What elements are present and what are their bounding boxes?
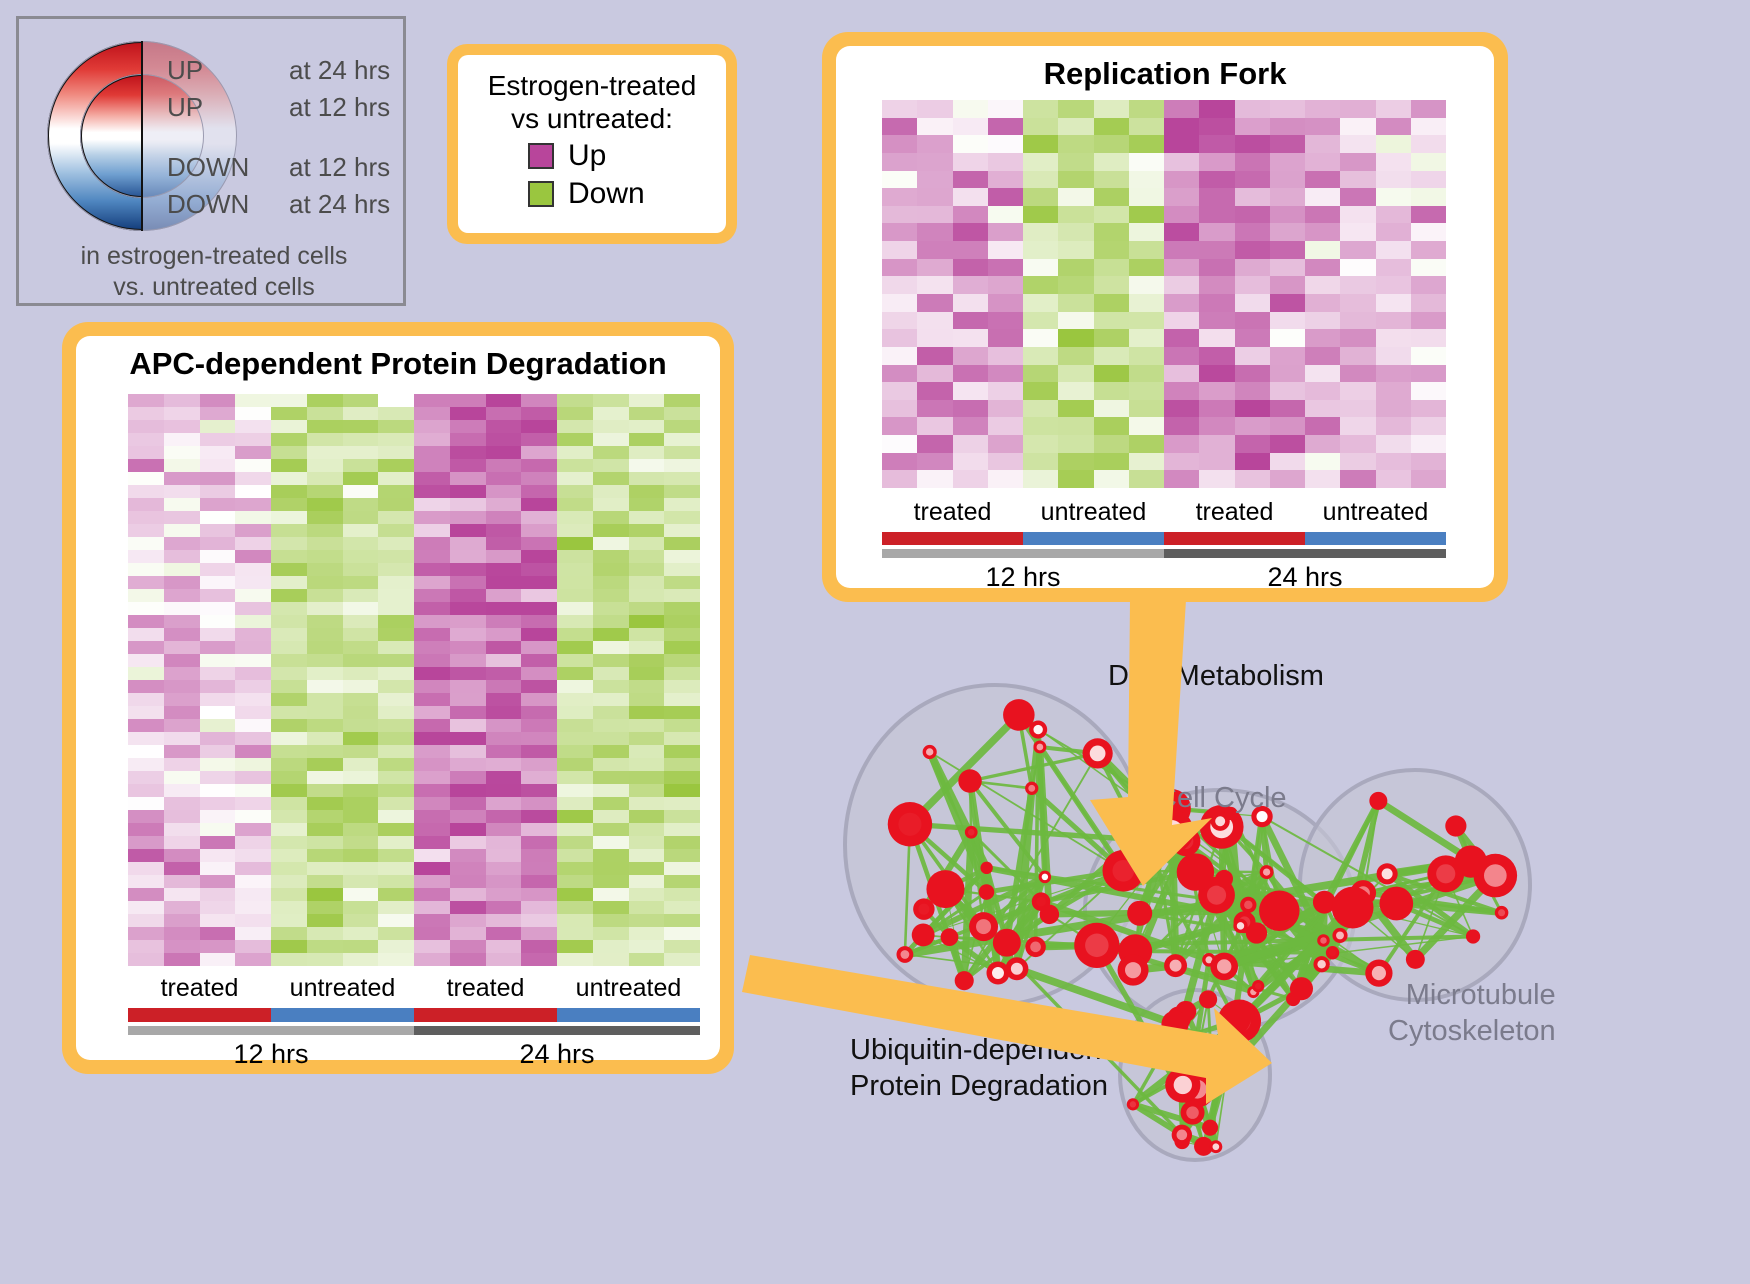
heatmap-cell — [664, 563, 700, 576]
heatmap-cell — [629, 693, 665, 706]
heatmap-cell — [164, 563, 200, 576]
heatmap-cell — [235, 498, 271, 511]
network-node[interactable] — [1326, 946, 1339, 959]
network-node[interactable] — [1206, 1070, 1229, 1093]
network-node[interactable] — [1039, 871, 1051, 883]
heatmap-cell — [557, 615, 593, 628]
heatmap-cell — [988, 417, 1023, 435]
heatmap-cell — [235, 953, 271, 966]
network-node[interactable] — [1260, 865, 1274, 879]
heatmap-cell — [307, 537, 343, 550]
heatmap-cell — [1058, 294, 1093, 312]
heatmap-cell — [629, 940, 665, 953]
heatmap-cell — [1376, 329, 1411, 347]
heatmap-cell — [343, 667, 379, 680]
heatmap-cell — [521, 927, 557, 940]
heatmap-cell — [307, 940, 343, 953]
heatmap-cell — [988, 470, 1023, 488]
node-outer-ring — [958, 769, 981, 792]
network-node[interactable] — [1033, 741, 1046, 754]
heatmap-cell — [307, 823, 343, 836]
heatmap-cell — [450, 446, 486, 459]
network-node[interactable] — [986, 962, 1009, 985]
heatmap-cell — [378, 485, 414, 498]
heatmap-cell — [557, 602, 593, 615]
heatmap-cell — [450, 667, 486, 680]
heatmap-cell — [486, 745, 522, 758]
network-node[interactable] — [955, 971, 974, 990]
heatmap-cell — [307, 433, 343, 446]
heatmap-cell — [557, 511, 593, 524]
heatmap-cell — [664, 511, 700, 524]
heatmap-cell — [953, 206, 988, 224]
network-node[interactable] — [1102, 850, 1144, 892]
heatmap-cell — [664, 576, 700, 589]
heatmap-cell — [1270, 453, 1305, 471]
heatmap-cell — [664, 550, 700, 563]
heatmap-cell — [1129, 453, 1164, 471]
heatmap-cell — [378, 641, 414, 654]
heatmap-cell — [271, 433, 307, 446]
heatmap-cell — [343, 485, 379, 498]
heatmap-cell — [593, 498, 629, 511]
heatmap-cell — [378, 810, 414, 823]
heatmap-cell — [521, 862, 557, 875]
heatmap-cell — [557, 667, 593, 680]
network-node[interactable] — [1466, 929, 1480, 943]
network-node[interactable] — [1210, 953, 1238, 981]
heatmap-cell — [378, 849, 414, 862]
network-node[interactable] — [941, 928, 959, 946]
heatmap-cell — [593, 927, 629, 940]
heatmap-cell — [917, 382, 952, 400]
heatmap-cell — [953, 417, 988, 435]
heatmap-cell — [164, 927, 200, 940]
heatmap-cell — [271, 589, 307, 602]
ring-caption-line2: vs. untreated cells — [19, 272, 409, 303]
node-inner-core — [1263, 868, 1270, 875]
network-node[interactable] — [896, 946, 913, 963]
network-node[interactable] — [1181, 1101, 1205, 1125]
heatmap-cell — [629, 758, 665, 771]
network-node[interactable] — [1369, 792, 1387, 810]
heatmap-cell — [521, 758, 557, 771]
heatmap-cell — [521, 589, 557, 602]
heatmap-cell — [1340, 312, 1375, 330]
heatmap-cell — [164, 784, 200, 797]
network-node[interactable] — [923, 745, 937, 759]
heatmap-cell — [1164, 188, 1199, 206]
heatmap-cell — [1270, 276, 1305, 294]
heatmap-cell — [593, 836, 629, 849]
heatmap-cell — [664, 758, 700, 771]
heatmap-cell — [164, 914, 200, 927]
heatmap-cell — [200, 784, 236, 797]
heatmap-cell — [1340, 171, 1375, 189]
heatmap-cell — [1376, 470, 1411, 488]
ring-time-2: at 12 hrs — [289, 152, 390, 182]
heatmap-cell — [486, 641, 522, 654]
heatmap-cell — [271, 706, 307, 719]
heatmap-cell — [629, 550, 665, 563]
heatmap-cell — [235, 706, 271, 719]
heatmap-cell — [343, 563, 379, 576]
node-inner-core — [1227, 1044, 1238, 1055]
node-outer-ring — [955, 971, 974, 990]
node-inner-core — [1207, 886, 1226, 905]
heatmap-cell — [629, 654, 665, 667]
heatmap-cell — [235, 797, 271, 810]
ring-legend-caption: in estrogen-treated cells vs. untreated … — [19, 241, 409, 303]
heatmap-cell — [128, 394, 164, 407]
heatmap-cell — [164, 602, 200, 615]
heatmap-cell — [1199, 470, 1234, 488]
heatmap-cell — [557, 823, 593, 836]
heatmap-cell — [235, 641, 271, 654]
network-node[interactable] — [979, 884, 995, 900]
heatmap-cell — [1094, 135, 1129, 153]
heatmap-cell — [164, 576, 200, 589]
network-node[interactable] — [1215, 870, 1233, 888]
network-node[interactable] — [1233, 919, 1247, 933]
heatmap-cell — [1199, 241, 1234, 259]
heatmap-cell — [1411, 223, 1446, 241]
network-node[interactable] — [1118, 955, 1149, 986]
heatmap-cell — [557, 394, 593, 407]
heatmap-cell — [629, 641, 665, 654]
heatmap-cell — [128, 472, 164, 485]
heatmap-cell — [414, 940, 450, 953]
heatmap-cell — [917, 365, 952, 383]
heatmap-cell — [343, 576, 379, 589]
heatmap-cell — [1199, 329, 1234, 347]
heatmap-cell — [557, 745, 593, 758]
heatmap-cell — [414, 693, 450, 706]
heatmap-cell — [128, 706, 164, 719]
network-node[interactable] — [1202, 1120, 1218, 1136]
heatmap-cell — [378, 784, 414, 797]
heatmap-cell — [235, 511, 271, 524]
heatmap-cell — [917, 100, 952, 118]
heatmap-cell — [1305, 400, 1340, 418]
heatmap-cell — [1164, 453, 1199, 471]
heatmap-cell — [664, 615, 700, 628]
heatmap-cell — [953, 241, 988, 259]
heatmap-cell — [307, 953, 343, 966]
network-node[interactable] — [1150, 809, 1194, 853]
heatmap-cell — [378, 914, 414, 927]
heatmap-cell — [882, 312, 917, 330]
heatmap-cell — [200, 589, 236, 602]
heatmap-cell — [1023, 276, 1058, 294]
heatmap-cell — [988, 171, 1023, 189]
network-node[interactable] — [1025, 782, 1038, 795]
heatmap-cell — [1376, 400, 1411, 418]
node-inner-core — [1174, 1076, 1192, 1094]
heatmap-cell — [450, 953, 486, 966]
heatmap-cell — [557, 940, 593, 953]
heatmap-cell — [200, 459, 236, 472]
network-node[interactable] — [1025, 937, 1046, 958]
heatmap-cell — [164, 667, 200, 680]
heatmap-cell — [1094, 417, 1129, 435]
heatmap-cell — [593, 940, 629, 953]
heatmap-cell — [882, 365, 917, 383]
network-node[interactable] — [1127, 901, 1152, 926]
heatmap-cell — [882, 206, 917, 224]
heatmap-cell — [664, 849, 700, 862]
heatmap-cell — [521, 693, 557, 706]
network-node[interactable] — [1074, 923, 1119, 968]
network-node[interactable] — [1427, 855, 1464, 892]
heatmap-cell — [882, 153, 917, 171]
heatmap-cell — [307, 407, 343, 420]
replication-fork-time-labels: 12 hrs24 hrs — [882, 562, 1446, 593]
network-node[interactable] — [980, 862, 992, 874]
heatmap-cell — [128, 641, 164, 654]
heatmap-cell — [557, 446, 593, 459]
network-node[interactable] — [1290, 977, 1313, 1000]
heatmap-cell — [664, 953, 700, 966]
heatmap-cell — [164, 823, 200, 836]
heatmap-cell — [378, 459, 414, 472]
heatmap-cell — [593, 875, 629, 888]
network-node[interactable] — [926, 870, 964, 908]
ring-row-2: DOWNat 12 hrs — [167, 152, 390, 183]
heatmap-cell — [882, 188, 917, 206]
heatmap-cell — [917, 118, 952, 136]
heatmap-cell — [1411, 206, 1446, 224]
heatmap-cell — [1376, 135, 1411, 153]
network-node[interactable] — [1495, 906, 1509, 920]
heatmap-cell — [1270, 171, 1305, 189]
node-outer-ring — [941, 928, 959, 946]
heatmap-cell — [1094, 382, 1129, 400]
heatmap-cell — [917, 417, 952, 435]
apc-treatment-labels: treateduntreatedtreateduntreated — [128, 974, 700, 1003]
heatmap-cell — [1270, 259, 1305, 277]
heatmap-cell — [486, 693, 522, 706]
heatmap-cell — [378, 602, 414, 615]
heatmap-cell — [1129, 118, 1164, 136]
heatmap-cell — [557, 849, 593, 862]
heatmap-cell — [1270, 223, 1305, 241]
heatmap-cell — [1164, 312, 1199, 330]
heatmap-cell — [235, 940, 271, 953]
heatmap-cell — [1058, 188, 1093, 206]
network-node[interactable] — [1406, 950, 1425, 969]
heatmap-cell — [1270, 329, 1305, 347]
heatmap-cell — [486, 667, 522, 680]
heatmap-cell — [271, 602, 307, 615]
heatmap-cell — [235, 394, 271, 407]
down-color-swatch — [528, 181, 554, 207]
network-node[interactable] — [1332, 928, 1347, 943]
heatmap-cell — [521, 940, 557, 953]
heatmap-cell — [953, 382, 988, 400]
heatmap-cell — [1094, 223, 1129, 241]
heatmap-cell — [988, 294, 1023, 312]
heatmap-cell — [557, 407, 593, 420]
network-node[interactable] — [1259, 890, 1300, 931]
network-node[interactable] — [1332, 887, 1374, 929]
heatmap-cell — [882, 453, 917, 471]
heatmap-cell — [593, 758, 629, 771]
network-node[interactable] — [958, 769, 981, 792]
heatmap-cell — [1164, 435, 1199, 453]
network-node[interactable] — [1127, 1098, 1139, 1110]
heatmap-cell — [200, 433, 236, 446]
node-inner-core — [1042, 874, 1048, 880]
network-node[interactable] — [1377, 863, 1398, 884]
heatmap-cell — [235, 576, 271, 589]
heatmap-cell — [1270, 153, 1305, 171]
heatmap-cell — [378, 680, 414, 693]
heatmap-cell — [307, 810, 343, 823]
heatmap-cell — [1235, 382, 1270, 400]
heatmap-cell — [1376, 100, 1411, 118]
heatmap-cell — [128, 407, 164, 420]
heatmap-cell — [1340, 382, 1375, 400]
heatmap-cell — [200, 849, 236, 862]
network-node[interactable] — [1172, 1125, 1192, 1145]
heatmap-cell — [343, 927, 379, 940]
node-outer-ring — [979, 884, 995, 900]
heatmap-cell — [378, 706, 414, 719]
heatmap-cell — [343, 472, 379, 485]
network-node[interactable] — [1003, 699, 1035, 731]
treatment-label: treated — [128, 974, 271, 1003]
heatmap-cell — [1305, 118, 1340, 136]
heatmap-cell — [343, 940, 379, 953]
heatmap-cell — [378, 901, 414, 914]
heatmap-cell — [1094, 453, 1129, 471]
heatmap-cell — [414, 641, 450, 654]
heatmap-cell — [128, 875, 164, 888]
network-node[interactable] — [888, 802, 932, 846]
network-node[interactable] — [1164, 954, 1187, 977]
node-outer-ring — [1177, 853, 1214, 890]
heatmap-cell — [664, 394, 700, 407]
heatmap-cell — [450, 602, 486, 615]
heatmap-cell — [1411, 100, 1446, 118]
heatmap-cell — [271, 745, 307, 758]
heatmap-cell — [1058, 382, 1093, 400]
ring-state-2: DOWN — [167, 152, 289, 183]
network-node[interactable] — [1317, 934, 1330, 947]
network-node[interactable] — [1379, 887, 1413, 921]
network-node[interactable] — [1219, 1003, 1251, 1035]
node-inner-core — [1213, 1143, 1220, 1150]
heatmap-cell — [1340, 100, 1375, 118]
heatmap-cell — [1023, 100, 1058, 118]
network-node[interactable] — [1161, 1011, 1188, 1038]
heatmap-cell — [200, 953, 236, 966]
heatmap-cell — [414, 836, 450, 849]
heatmap-cell — [917, 400, 952, 418]
heatmap-cell — [486, 420, 522, 433]
heatmap-cell — [164, 706, 200, 719]
updown-title-line1: Estrogen-treated — [458, 69, 726, 102]
heatmap-cell — [1199, 365, 1234, 383]
heatmap-cell — [593, 719, 629, 732]
network-node[interactable] — [1005, 957, 1028, 980]
network-node[interactable] — [1199, 990, 1217, 1008]
node-inner-core — [1498, 909, 1505, 916]
network-node[interactable] — [1209, 1140, 1222, 1153]
ring-row-3: DOWNat 24 hrs — [167, 189, 390, 220]
network-node[interactable] — [1445, 815, 1466, 836]
network-node[interactable] — [965, 826, 978, 839]
network-node[interactable] — [993, 929, 1021, 957]
heatmap-cell — [378, 446, 414, 459]
heatmap-cell — [917, 312, 952, 330]
heatmap-cell — [1023, 470, 1058, 488]
heatmap-cell — [629, 537, 665, 550]
network-node[interactable] — [1240, 897, 1256, 913]
network-node[interactable] — [1032, 892, 1051, 911]
heatmap-cell — [988, 241, 1023, 259]
heatmap-cell — [557, 459, 593, 472]
heatmap-cell — [629, 472, 665, 485]
heatmap-cell — [521, 615, 557, 628]
heatmap-cell — [486, 537, 522, 550]
heatmap-cell — [1305, 329, 1340, 347]
network-node[interactable] — [1165, 1067, 1200, 1102]
heatmap-cell — [1235, 171, 1270, 189]
heatmap-cell — [307, 576, 343, 589]
heatmap-cell — [1270, 435, 1305, 453]
heatmap-cell — [882, 259, 917, 277]
heatmap-cell — [450, 407, 486, 420]
heatmap-cell — [1340, 259, 1375, 277]
heatmap-cell — [128, 771, 164, 784]
heatmap-cell — [378, 524, 414, 537]
heatmap-cell — [378, 511, 414, 524]
network-node[interactable] — [1082, 738, 1112, 768]
heatmap-cell — [128, 953, 164, 966]
heatmap-cell — [1129, 135, 1164, 153]
heatmap-cell — [486, 888, 522, 901]
heatmap-cell — [557, 836, 593, 849]
heatmap-cell — [1411, 276, 1446, 294]
heatmap-cell — [414, 485, 450, 498]
heatmap-cell — [1058, 400, 1093, 418]
heatmap-cell — [593, 446, 629, 459]
network-node[interactable] — [1177, 853, 1214, 890]
heatmap-cell — [307, 693, 343, 706]
heatmap-cell — [307, 758, 343, 771]
network-node[interactable] — [1252, 980, 1264, 992]
heatmap-cell — [164, 550, 200, 563]
heatmap-cell — [128, 849, 164, 862]
heatmap-cell — [343, 719, 379, 732]
network-node[interactable] — [969, 912, 998, 941]
node-outer-ring — [1445, 815, 1466, 836]
heatmap-cell — [629, 901, 665, 914]
heatmap-cell — [235, 654, 271, 667]
heatmap-cell — [1235, 453, 1270, 471]
network-node[interactable] — [1313, 956, 1329, 972]
heatmap-cell — [1164, 100, 1199, 118]
network-node[interactable] — [912, 924, 935, 947]
heatmap-cell — [450, 589, 486, 602]
heatmap-cell — [1270, 188, 1305, 206]
updown-title-line2: vs untreated: — [458, 102, 726, 135]
heatmap-cell — [450, 758, 486, 771]
heatmap-cell — [1376, 223, 1411, 241]
heatmap-cell — [200, 446, 236, 459]
